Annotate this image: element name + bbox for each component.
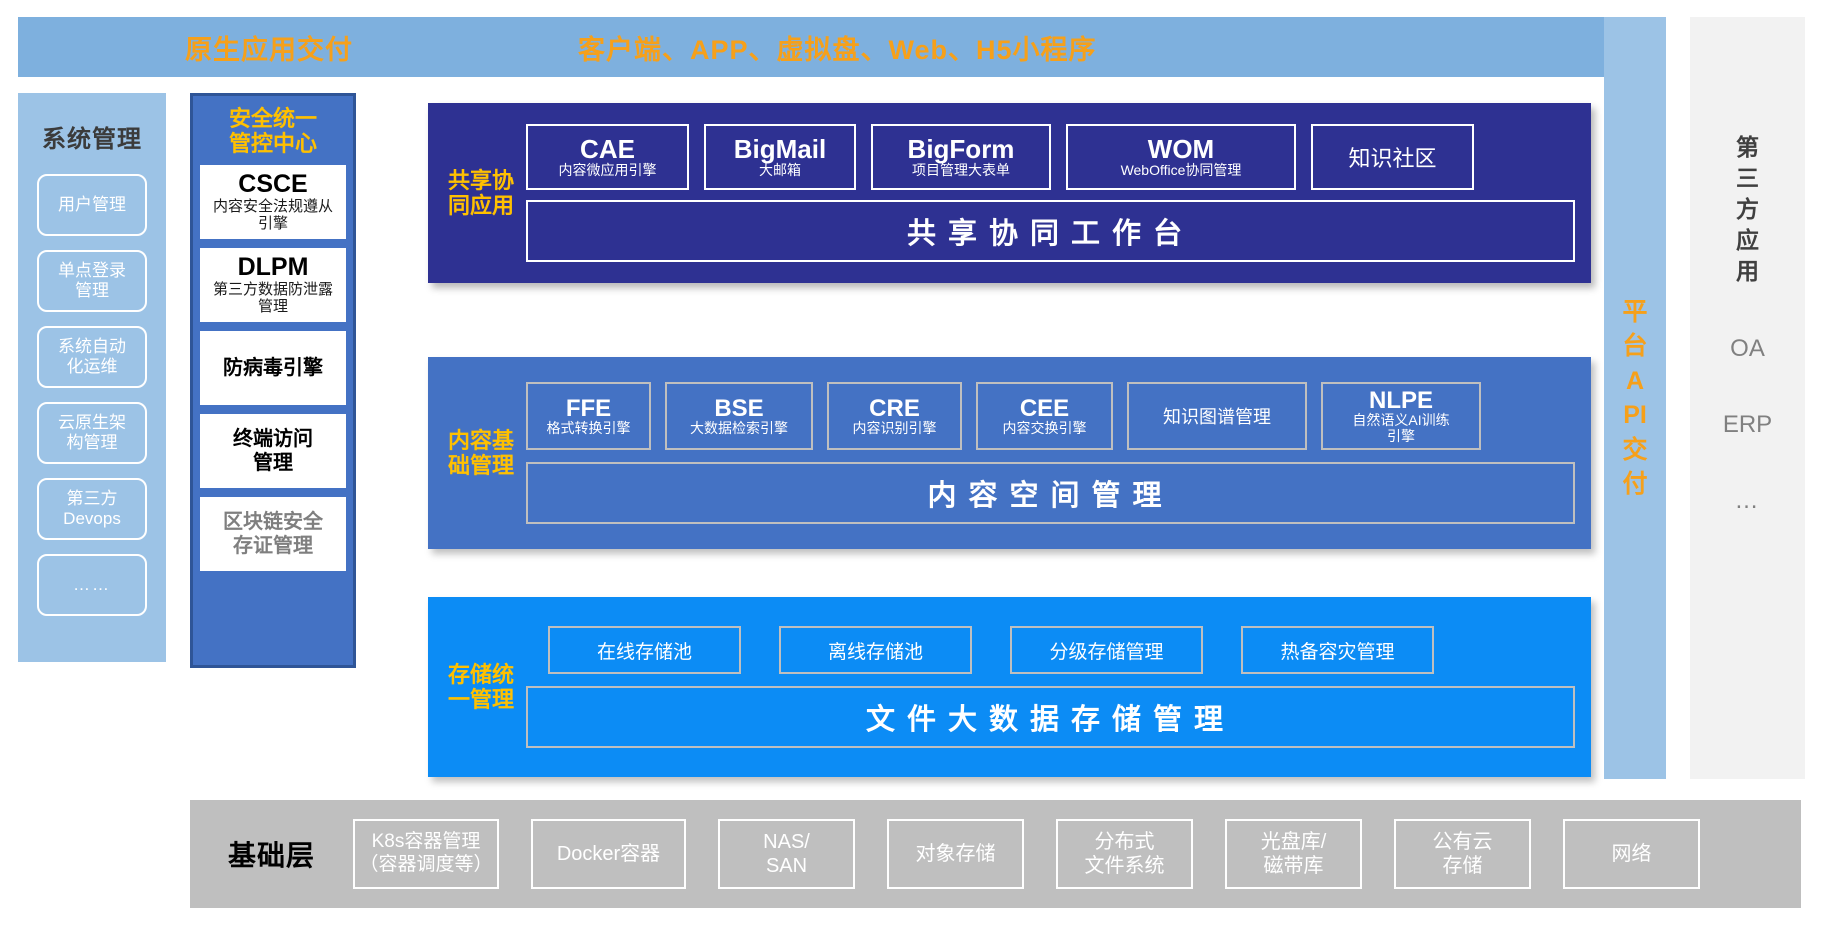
sidebar-item-label: 云原生架构管理 <box>58 413 126 454</box>
shared-collaboration-label: 共享协同应用 <box>436 168 526 219</box>
storage-tile-tiered-storage[interactable]: 分级存储管理 <box>1010 626 1203 674</box>
system-management-title: 系统管理 <box>42 119 142 154</box>
third-party-item-oa[interactable]: OA <box>1730 335 1765 363</box>
app-tile-code: WOM <box>1148 136 1214 163</box>
infra-tile-public-cloud-storage[interactable]: 公有云存储 <box>1394 819 1531 889</box>
sidebar-item-label: 系统自动化运维 <box>58 337 126 378</box>
storage-tile-label: 热备容灾管理 <box>1280 637 1394 664</box>
infra-tile-label: 对象存储 <box>916 842 996 866</box>
infra-tile-k8s[interactable]: K8s容器管理（容器调度等） <box>353 819 499 889</box>
storage-tile-label: 分级存储管理 <box>1049 637 1163 664</box>
infra-tile-label: 分布式文件系统 <box>1085 830 1165 878</box>
infrastructure-title: 基础层 <box>228 834 315 874</box>
third-party-item-label: OA <box>1730 335 1765 362</box>
platform-api-column: 平台API交付 <box>1604 17 1666 779</box>
security-item-csce[interactable]: CSCE 内容安全法规遵从引擎 <box>200 165 346 239</box>
third-party-title: 第三方应用 <box>1733 132 1763 287</box>
content-base-band: 内容基础管理 FFE 格式转换引擎 BSE 大数据检索引擎 CRE 内容识别引擎… <box>428 357 1591 549</box>
third-party-item-erp[interactable]: ERP <box>1723 411 1772 439</box>
sidebar-item-label: 单点登录管理 <box>58 261 126 302</box>
app-tile-desc: WebOffice协同管理 <box>1121 163 1242 178</box>
storage-label: 存储统一管理 <box>436 662 526 713</box>
engine-tile-code: CRE <box>869 396 920 421</box>
engine-tile-desc: 大数据检索引擎 <box>690 421 788 436</box>
storage-tile-label: 离线存储池 <box>828 637 923 664</box>
app-tile-desc: 内容微应用引擎 <box>559 163 657 178</box>
sidebar-item-automation-ops[interactable]: 系统自动化运维 <box>37 326 147 388</box>
engine-tile-ffe[interactable]: FFE 格式转换引擎 <box>526 382 651 450</box>
third-party-item-label: … <box>1735 487 1761 514</box>
engine-tile-cee[interactable]: CEE 内容交换引擎 <box>976 382 1113 450</box>
engine-tile-desc: 内容交换引擎 <box>1003 421 1087 436</box>
engine-tile-nlpe[interactable]: NLPE 自然语义AI训练引擎 <box>1321 382 1481 450</box>
app-tile-bigmail[interactable]: BigMail 大邮箱 <box>704 124 856 190</box>
security-item-label: 终端访问管理 <box>233 427 313 475</box>
third-party-column: 第三方应用 OA ERP … <box>1690 17 1805 779</box>
security-item-label: 区块链安全存证管理 <box>223 510 323 558</box>
engine-tile-code: FFE <box>566 396 611 421</box>
engine-tile-desc: 自然语义AI训练引擎 <box>1352 413 1449 444</box>
app-tile-bigform[interactable]: BigForm 项目管理大表单 <box>871 124 1051 190</box>
app-tile-cae[interactable]: CAE 内容微应用引擎 <box>526 124 689 190</box>
security-item-code: DLPM <box>238 254 309 282</box>
infra-tile-label: Docker容器 <box>557 842 660 866</box>
engine-tile-desc: 内容识别引擎 <box>853 421 937 436</box>
third-party-item-label: ERP <box>1723 411 1772 438</box>
infra-tile-object-storage[interactable]: 对象存储 <box>887 819 1024 889</box>
app-tile-wom[interactable]: WOM WebOffice协同管理 <box>1066 124 1296 190</box>
security-item-label: 防病毒引擎 <box>223 356 323 380</box>
app-tile-code: CAE <box>580 136 635 163</box>
app-tile-code: BigMail <box>734 136 826 163</box>
security-item-code: CSCE <box>238 171 307 199</box>
storage-tile-hot-backup-dr[interactable]: 热备容灾管理 <box>1241 626 1434 674</box>
engine-tile-cre[interactable]: CRE 内容识别引擎 <box>827 382 962 450</box>
shared-collaboration-workbench-bar[interactable]: 共享协同工作台 <box>526 200 1575 262</box>
storage-band: 存储统一管理 在线存储池 离线存储池 分级存储管理 热备容灾管理 文件大数据存储… <box>428 597 1591 777</box>
security-center-title: 安全统一管控中心 <box>229 106 317 157</box>
architecture-diagram: 原生应用交付 客户端、APP、虚拟盘、Web、H5小程序 系统管理 用户管理 单… <box>0 0 1823 928</box>
infra-tile-label: 光盘库/磁带库 <box>1261 830 1327 878</box>
app-tile-knowledge-community[interactable]: 知识社区 <box>1311 124 1474 190</box>
infra-tile-network[interactable]: 网络 <box>1563 819 1700 889</box>
app-tile-desc: 大邮箱 <box>759 163 801 178</box>
infra-tile-label: K8s容器管理（容器调度等） <box>360 831 493 877</box>
infra-tile-distributed-fs[interactable]: 分布式文件系统 <box>1056 819 1193 889</box>
app-tile-code: 知识社区 <box>1348 141 1436 173</box>
engine-tile-code: BSE <box>714 396 763 421</box>
native-delivery-label: 原生应用交付 <box>185 28 353 67</box>
content-space-management-bar[interactable]: 内容空间管理 <box>526 462 1575 524</box>
engine-tile-bse[interactable]: BSE 大数据检索引擎 <box>665 382 813 450</box>
content-base-label: 内容基础管理 <box>436 428 526 479</box>
app-tile-code: BigForm <box>908 136 1015 163</box>
engine-tile-code: 知识图谱管理 <box>1163 403 1271 429</box>
storage-tile-label: 在线存储池 <box>597 637 692 664</box>
sidebar-item-label: …… <box>73 575 111 595</box>
infra-tile-optical-tape-library[interactable]: 光盘库/磁带库 <box>1225 819 1362 889</box>
sidebar-item-more[interactable]: …… <box>37 554 147 616</box>
sidebar-item-third-party-devops[interactable]: 第三方Devops <box>37 478 147 540</box>
engine-tile-code: CEE <box>1020 396 1069 421</box>
security-center-column: 安全统一管控中心 CSCE 内容安全法规遵从引擎 DLPM 第三方数据防泄露管理… <box>190 93 356 668</box>
security-item-antivirus-engine[interactable]: 防病毒引擎 <box>200 331 346 405</box>
storage-tile-online-pool[interactable]: 在线存储池 <box>548 626 741 674</box>
sidebar-item-sso-management[interactable]: 单点登录管理 <box>37 250 147 312</box>
security-item-terminal-access[interactable]: 终端访问管理 <box>200 414 346 488</box>
storage-tile-offline-pool[interactable]: 离线存储池 <box>779 626 972 674</box>
app-tile-desc: 项目管理大表单 <box>912 163 1010 178</box>
infra-tile-label: 公有云存储 <box>1433 830 1493 878</box>
client-channels-label: 客户端、APP、虚拟盘、Web、H5小程序 <box>578 28 1097 67</box>
security-item-desc: 第三方数据防泄露管理 <box>213 281 333 316</box>
engine-tile-desc: 格式转换引擎 <box>547 421 631 436</box>
engine-tile-code: NLPE <box>1369 388 1433 413</box>
infra-tile-docker[interactable]: Docker容器 <box>531 819 686 889</box>
security-item-desc: 内容安全法规遵从引擎 <box>213 198 333 233</box>
shared-collaboration-band: 共享协同应用 CAE 内容微应用引擎 BigMail 大邮箱 BigForm 项… <box>428 103 1591 283</box>
top-banner: 原生应用交付 客户端、APP、虚拟盘、Web、H5小程序 <box>18 17 1611 77</box>
file-bigdata-storage-bar[interactable]: 文件大数据存储管理 <box>526 686 1575 748</box>
sidebar-item-label: 第三方Devops <box>63 489 121 530</box>
security-item-dlpm[interactable]: DLPM 第三方数据防泄露管理 <box>200 248 346 322</box>
infra-tile-nas-san[interactable]: NAS/SAN <box>718 819 855 889</box>
security-item-blockchain-evidence[interactable]: 区块链安全存证管理 <box>200 497 346 571</box>
infrastructure-band: 基础层 K8s容器管理（容器调度等） Docker容器 NAS/SAN 对象存储… <box>190 800 1801 908</box>
engine-tile-knowledge-graph[interactable]: 知识图谱管理 <box>1127 382 1307 450</box>
sidebar-item-cloud-native-arch[interactable]: 云原生架构管理 <box>37 402 147 464</box>
platform-api-label: 平台API交付 <box>1620 295 1650 502</box>
sidebar-item-label: 用户管理 <box>58 195 126 215</box>
infra-tile-label: NAS/SAN <box>763 830 810 878</box>
system-management-column: 系统管理 用户管理 单点登录管理 系统自动化运维 云原生架构管理 第三方Devo… <box>18 93 166 662</box>
third-party-item-more[interactable]: … <box>1735 487 1761 515</box>
sidebar-item-user-management[interactable]: 用户管理 <box>37 174 147 236</box>
infra-tile-label: 网络 <box>1612 842 1652 866</box>
